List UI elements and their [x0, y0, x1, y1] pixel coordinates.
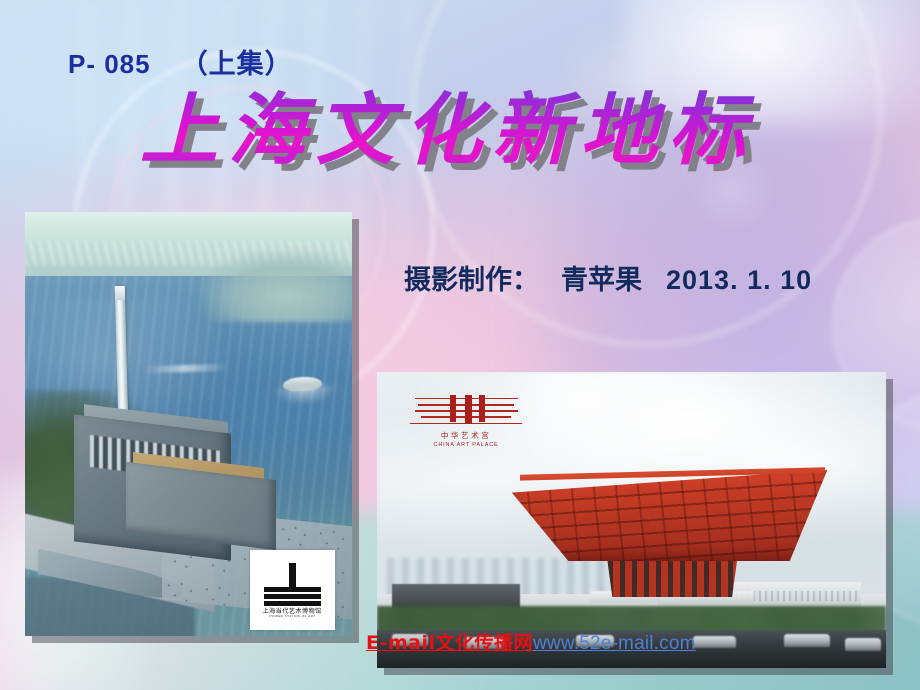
page-title-text: 上海文化新地标	[140, 85, 756, 176]
psa-logo-mark-icon	[261, 563, 324, 606]
logo-horizontal-bar	[264, 601, 322, 606]
photo-power-station-of-art: 上海当代艺术博物馆 POWER STATION OF ART	[25, 212, 352, 636]
logo-horizontal-bar	[264, 594, 322, 599]
logo-vertical-bar	[289, 563, 295, 588]
china-art-palace-logo: 中华艺术宫 CHINA ART PALACE	[410, 394, 522, 453]
slide-code-number: P- 085	[68, 49, 151, 79]
boat-shape	[283, 376, 323, 392]
logo-horizontal-bar	[264, 587, 322, 592]
logo-stem	[465, 395, 472, 425]
slide-code: P- 085（上集）	[68, 42, 293, 81]
logo-stem	[450, 395, 456, 422]
credit-date: 2013. 1. 10	[666, 265, 812, 295]
power-station-of-art-logo: 上海当代艺术博物馆 POWER STATION OF ART	[250, 550, 335, 631]
photo-china-art-palace: 中华艺术宫 CHINA ART PALACE	[377, 372, 886, 668]
tree-row	[377, 606, 886, 633]
headland-layer	[202, 250, 352, 322]
credit-author: 青苹果	[561, 265, 642, 296]
page-title: 上海文化新地标 上海文化新地标	[140, 92, 756, 170]
cap-logo-chinese-name: 中华艺术宫	[441, 430, 492, 441]
psa-logo-english-name: POWER STATION OF ART	[270, 615, 316, 618]
car-shape	[784, 634, 830, 646]
watermark-site-name[interactable]: E-mail文化传播网	[366, 632, 533, 654]
credit-line: 摄影制作：青苹果2013. 1. 10	[404, 258, 812, 297]
pavilion-columns	[601, 556, 744, 597]
photo-right-content: 中华艺术宫 CHINA ART PALACE	[377, 372, 886, 668]
presentation-slide: P- 085（上集） 上海文化新地标 上海文化新地标 摄影制作：青苹果2013.…	[0, 0, 920, 690]
credit-label: 摄影制作：	[404, 265, 539, 296]
china-art-palace-logo-mark-icon	[410, 394, 522, 428]
watermark: E-mail文化传播网www.52e-mail.com	[366, 634, 696, 653]
watermark-site-url[interactable]: www.52e-mail.com	[533, 633, 696, 654]
cap-logo-english-name: CHINA ART PALACE	[434, 442, 499, 448]
car-shape	[845, 638, 881, 650]
car-shape	[693, 636, 736, 648]
logo-stem	[479, 395, 485, 422]
photo-left-content: 上海当代艺术博物馆 POWER STATION OF ART	[25, 212, 352, 636]
slide-part-label: （上集）	[181, 49, 293, 80]
